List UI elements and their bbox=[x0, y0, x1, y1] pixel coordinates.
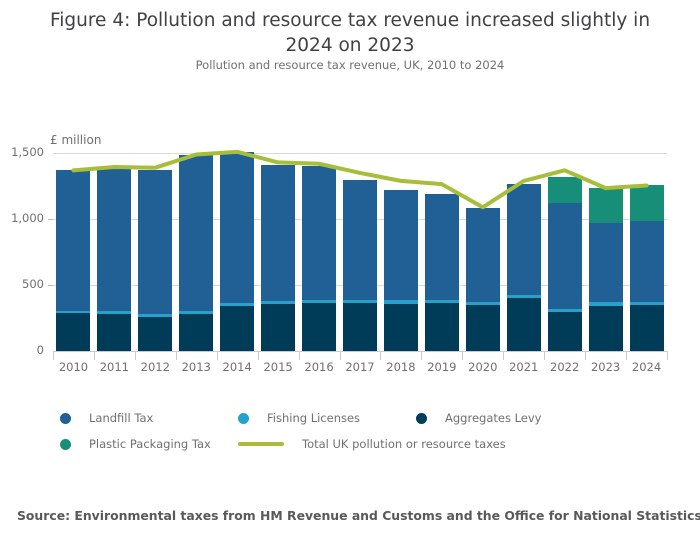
x-axis-label-2010: 2010 bbox=[53, 360, 94, 374]
source-note: Source: Environmental taxes from HM Reve… bbox=[17, 508, 687, 523]
x-axis-label-2018: 2018 bbox=[380, 360, 421, 374]
y-axis-tick-label: 500 bbox=[0, 277, 44, 291]
chart-figure: Figure 4: Pollution and resource tax rev… bbox=[0, 0, 700, 549]
x-axis-tick-mark bbox=[544, 351, 545, 360]
legend-item-fishing-licenses[interactable]: Fishing Licenses bbox=[238, 405, 360, 431]
x-axis-label-2015: 2015 bbox=[258, 360, 299, 374]
x-axis-label-2021: 2021 bbox=[503, 360, 544, 374]
x-axis-tick-mark bbox=[299, 351, 300, 360]
y-axis-tick-label: 1,500 bbox=[0, 145, 44, 159]
x-axis-label-2017: 2017 bbox=[340, 360, 381, 374]
x-axis-line bbox=[53, 351, 668, 352]
legend-item-total-uk-pollution-or-resource-taxes[interactable]: Total UK pollution or resource taxes bbox=[238, 431, 506, 457]
x-axis-label-2023: 2023 bbox=[585, 360, 626, 374]
line-total-uk-pollution-or-resource-taxes[interactable] bbox=[73, 152, 646, 207]
x-axis-tick-mark bbox=[217, 351, 218, 360]
x-axis-tick-mark-end bbox=[667, 351, 668, 360]
x-axis-tick-mark bbox=[421, 351, 422, 360]
y-axis-tick-mark bbox=[48, 219, 53, 220]
x-axis-label-2011: 2011 bbox=[94, 360, 135, 374]
plot-area bbox=[53, 140, 667, 351]
x-axis-tick-mark bbox=[380, 351, 381, 360]
chart-legend: Landfill TaxFishing LicensesAggregates L… bbox=[60, 405, 680, 457]
chart-title: Figure 4: Pollution and resource tax rev… bbox=[30, 8, 670, 58]
x-axis-tick-mark bbox=[462, 351, 463, 360]
landfill-tax-dot-icon bbox=[60, 413, 71, 424]
x-axis-tick-mark bbox=[176, 351, 177, 360]
chart-subtitle: Pollution and resource tax revenue, UK, … bbox=[30, 58, 670, 72]
y-axis-tick-label: 1,000 bbox=[0, 211, 44, 225]
legend-item-plastic-packaging-tax[interactable]: Plastic Packaging Tax bbox=[60, 431, 211, 457]
x-axis-tick-mark bbox=[340, 351, 341, 360]
x-axis-tick-mark bbox=[503, 351, 504, 360]
x-axis-tick-mark bbox=[626, 351, 627, 360]
x-axis-tick-mark bbox=[53, 351, 54, 360]
x-axis-label-2022: 2022 bbox=[544, 360, 585, 374]
legend-label-aggregates-levy: Aggregates Levy bbox=[445, 411, 542, 425]
legend-item-aggregates-levy[interactable]: Aggregates Levy bbox=[416, 405, 542, 431]
x-axis-label-2012: 2012 bbox=[135, 360, 176, 374]
legend-row-primary: Landfill TaxFishing LicensesAggregates L… bbox=[60, 405, 680, 431]
fishing-licenses-dot-icon bbox=[238, 413, 249, 424]
x-axis-tick-mark bbox=[258, 351, 259, 360]
plastic-packaging-tax-dot-icon bbox=[60, 439, 71, 450]
legend-item-landfill-tax[interactable]: Landfill Tax bbox=[60, 405, 153, 431]
aggregates-levy-dot-icon bbox=[416, 413, 427, 424]
x-axis-label-2016: 2016 bbox=[299, 360, 340, 374]
y-axis-tick-mark bbox=[48, 285, 53, 286]
x-axis-tick-mark bbox=[585, 351, 586, 360]
x-axis-tick-mark bbox=[135, 351, 136, 360]
total-uk-pollution-or-resource-taxes-line-icon bbox=[238, 442, 284, 446]
x-axis-label-2020: 2020 bbox=[462, 360, 503, 374]
total-line-overlay bbox=[53, 140, 667, 351]
x-axis-label-2013: 2013 bbox=[176, 360, 217, 374]
legend-label-fishing-licenses: Fishing Licenses bbox=[267, 411, 360, 425]
x-axis-label-2019: 2019 bbox=[421, 360, 462, 374]
legend-label-landfill-tax: Landfill Tax bbox=[89, 411, 153, 425]
x-axis-label-2024: 2024 bbox=[626, 360, 667, 374]
legend-label-plastic-packaging-tax: Plastic Packaging Tax bbox=[89, 437, 211, 451]
legend-label-total-uk-pollution-or-resource-taxes: Total UK pollution or resource taxes bbox=[302, 437, 506, 451]
x-axis-tick-mark bbox=[94, 351, 95, 360]
y-axis-tick-label: 0 bbox=[0, 343, 44, 357]
x-axis-label-2014: 2014 bbox=[217, 360, 258, 374]
legend-row-secondary: Plastic Packaging TaxTotal UK pollution … bbox=[60, 431, 680, 457]
